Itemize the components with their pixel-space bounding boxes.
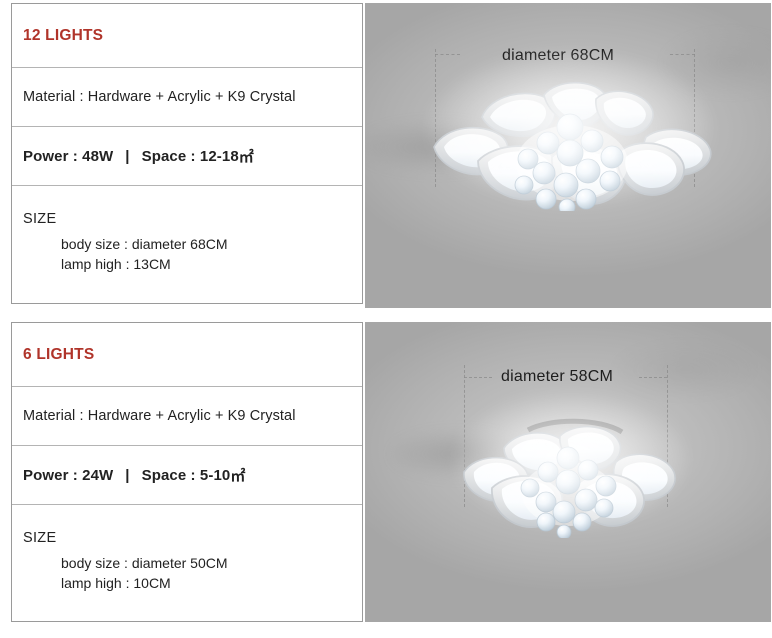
spec-size-body: body size : diameter 50CM (61, 553, 228, 573)
lamp-svg (450, 410, 690, 538)
spec-size-body: body size : diameter 68CM (61, 234, 228, 254)
product-photo-12-lights: diameter 68CM (365, 3, 771, 308)
spec-material-value: Material : Hardware + Acrylic + K9 Cryst… (23, 89, 296, 105)
spec-power-value: Power : 24W (23, 467, 113, 484)
spec-space-value: Space : 5-10 (142, 467, 231, 484)
spec-material-value: Material : Hardware + Acrylic + K9 Cryst… (23, 408, 296, 424)
spec-power-separator: | (113, 467, 141, 484)
spec-size-lamp-high: lamp high : 13CM (61, 254, 228, 274)
product-spec-sheet: 12 LIGHTS Material : Hardware + Acrylic … (0, 0, 772, 638)
spec-size-heading: SIZE (23, 530, 228, 546)
spec-size-group: SIZE body size : diameter 50CM lamp high… (23, 530, 228, 593)
spec-power-value: Power : 48W (23, 148, 113, 165)
spec-table-12-lights: 12 LIGHTS Material : Hardware + Acrylic … (11, 3, 363, 304)
spec-space-unit: ㎡ (230, 465, 245, 486)
spec-space-value: Space : 12-18 (142, 148, 239, 165)
product-photo-6-lights: diameter 58CM (365, 322, 771, 622)
dimension-label-68cm: diameter 68CM (502, 47, 614, 65)
spec-row-title: 6 LIGHTS (12, 323, 362, 387)
spec-title-6-lights: 6 LIGHTS (23, 346, 94, 364)
spec-row-power: Power : 24W | Space : 5-10 ㎡ (12, 446, 362, 505)
spec-size-lamp-high: lamp high : 10CM (61, 573, 228, 593)
dimension-guide-top-right (639, 377, 667, 378)
lamp-illustration-6-lights (450, 410, 690, 538)
spec-size-heading: SIZE (23, 211, 228, 227)
spec-row-size: SIZE body size : diameter 50CM lamp high… (12, 505, 362, 622)
spec-row-size: SIZE body size : diameter 68CM lamp high… (12, 186, 362, 303)
spec-table-6-lights: 6 LIGHTS Material : Hardware + Acrylic +… (11, 322, 363, 622)
dimension-label-58cm: diameter 58CM (501, 368, 613, 386)
spec-size-group: SIZE body size : diameter 68CM lamp high… (23, 211, 228, 274)
spec-title-12-lights: 12 LIGHTS (23, 27, 103, 45)
dimension-guide-top-right (670, 54, 695, 55)
spec-row-title: 12 LIGHTS (12, 4, 362, 68)
dimension-guide-top-left (435, 54, 460, 55)
spec-space-unit: ㎡ (239, 146, 254, 167)
lamp-svg (420, 65, 720, 211)
spec-row-power: Power : 48W | Space : 12-18 ㎡ (12, 127, 362, 186)
lamp-illustration-12-lights (420, 65, 720, 211)
ceiling-shadow-2 (615, 342, 755, 397)
dimension-guide-top-left (464, 377, 492, 378)
spec-power-separator: | (113, 148, 141, 165)
spec-row-material: Material : Hardware + Acrylic + K9 Cryst… (12, 387, 362, 446)
spec-row-material: Material : Hardware + Acrylic + K9 Cryst… (12, 68, 362, 127)
